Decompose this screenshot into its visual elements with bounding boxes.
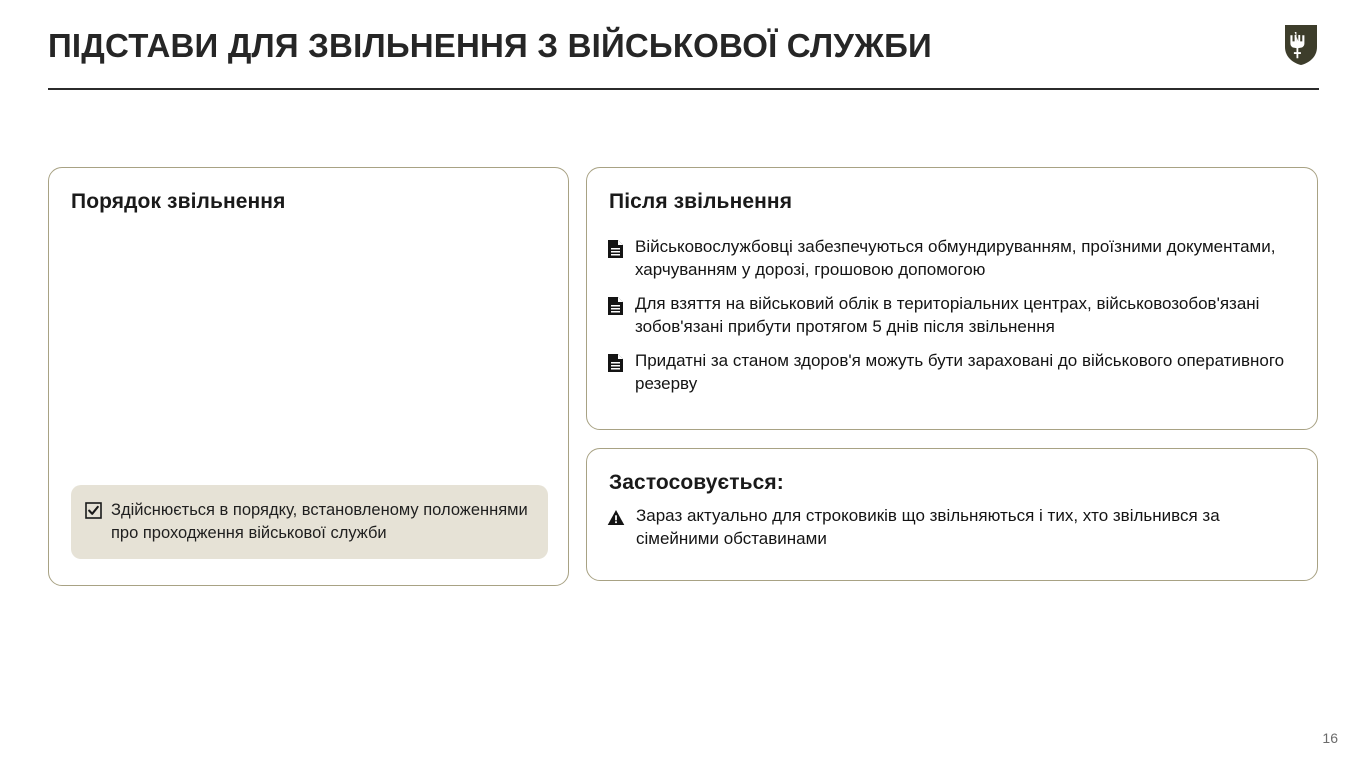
list-item: Здійснюється в порядку, встановленому по… xyxy=(85,499,532,544)
ukraine-trident-shield-emblem xyxy=(1284,24,1318,66)
bullet-text: Для взяття на військовий облік в територ… xyxy=(635,293,1299,339)
bullet-text: Військовослужбовці забезпечуються обмунд… xyxy=(635,236,1299,282)
slide-root: ПІДСТАВИ ДЛЯ ЗВІЛЬНЕННЯ З ВІЙСЬКОВОЇ СЛУ… xyxy=(0,0,1366,768)
card-heading-after-discharge: Після звільнення xyxy=(609,190,792,214)
list-item: Військовослужбовці забезпечуються обмунд… xyxy=(607,236,1299,282)
document-icon xyxy=(607,239,624,259)
warning-triangle-icon xyxy=(607,509,625,526)
bullet-text: Придатні за станом здоров'я можуть бути … xyxy=(635,350,1299,396)
card-after-discharge: Після звільнення Військовослужбовці забе… xyxy=(586,167,1318,430)
card-heading-discharge-procedure: Порядок звільнення xyxy=(71,190,285,214)
card-discharge-procedure: Порядок звільнення Здійснюється в порядк… xyxy=(48,167,569,586)
list-item: Придатні за станом здоров'я можуть бути … xyxy=(607,350,1299,396)
page-title: ПІДСТАВИ ДЛЯ ЗВІЛЬНЕННЯ З ВІЙСЬКОВОЇ СЛУ… xyxy=(48,28,1318,64)
bullet-text: Зараз актуально для строковиків що звіль… xyxy=(636,505,1299,551)
card-applies-to: Застосовується: Зараз актуально для стро… xyxy=(586,448,1318,581)
document-icon xyxy=(607,353,624,373)
bullet-list-applies-to: Зараз актуально для строковиків що звіль… xyxy=(607,505,1299,551)
slide-header: ПІДСТАВИ ДЛЯ ЗВІЛЬНЕННЯ З ВІЙСЬКОВОЇ СЛУ… xyxy=(48,28,1318,90)
document-icon xyxy=(607,296,624,316)
highlight-box-discharge-procedure: Здійснюється в порядку, встановленому по… xyxy=(71,485,548,559)
bullet-list-after-discharge: Військовослужбовці забезпечуються обмунд… xyxy=(607,236,1299,396)
page-number: 16 xyxy=(1322,730,1338,746)
list-item: Для взяття на військовий облік в територ… xyxy=(607,293,1299,339)
card-heading-applies-to: Застосовується: xyxy=(609,471,784,495)
highlight-text: Здійснюється в порядку, встановленому по… xyxy=(111,499,532,544)
list-item: Зараз актуально для строковиків що звіль… xyxy=(607,505,1299,551)
header-divider xyxy=(48,88,1319,90)
checkbox-checked-icon xyxy=(85,502,102,519)
